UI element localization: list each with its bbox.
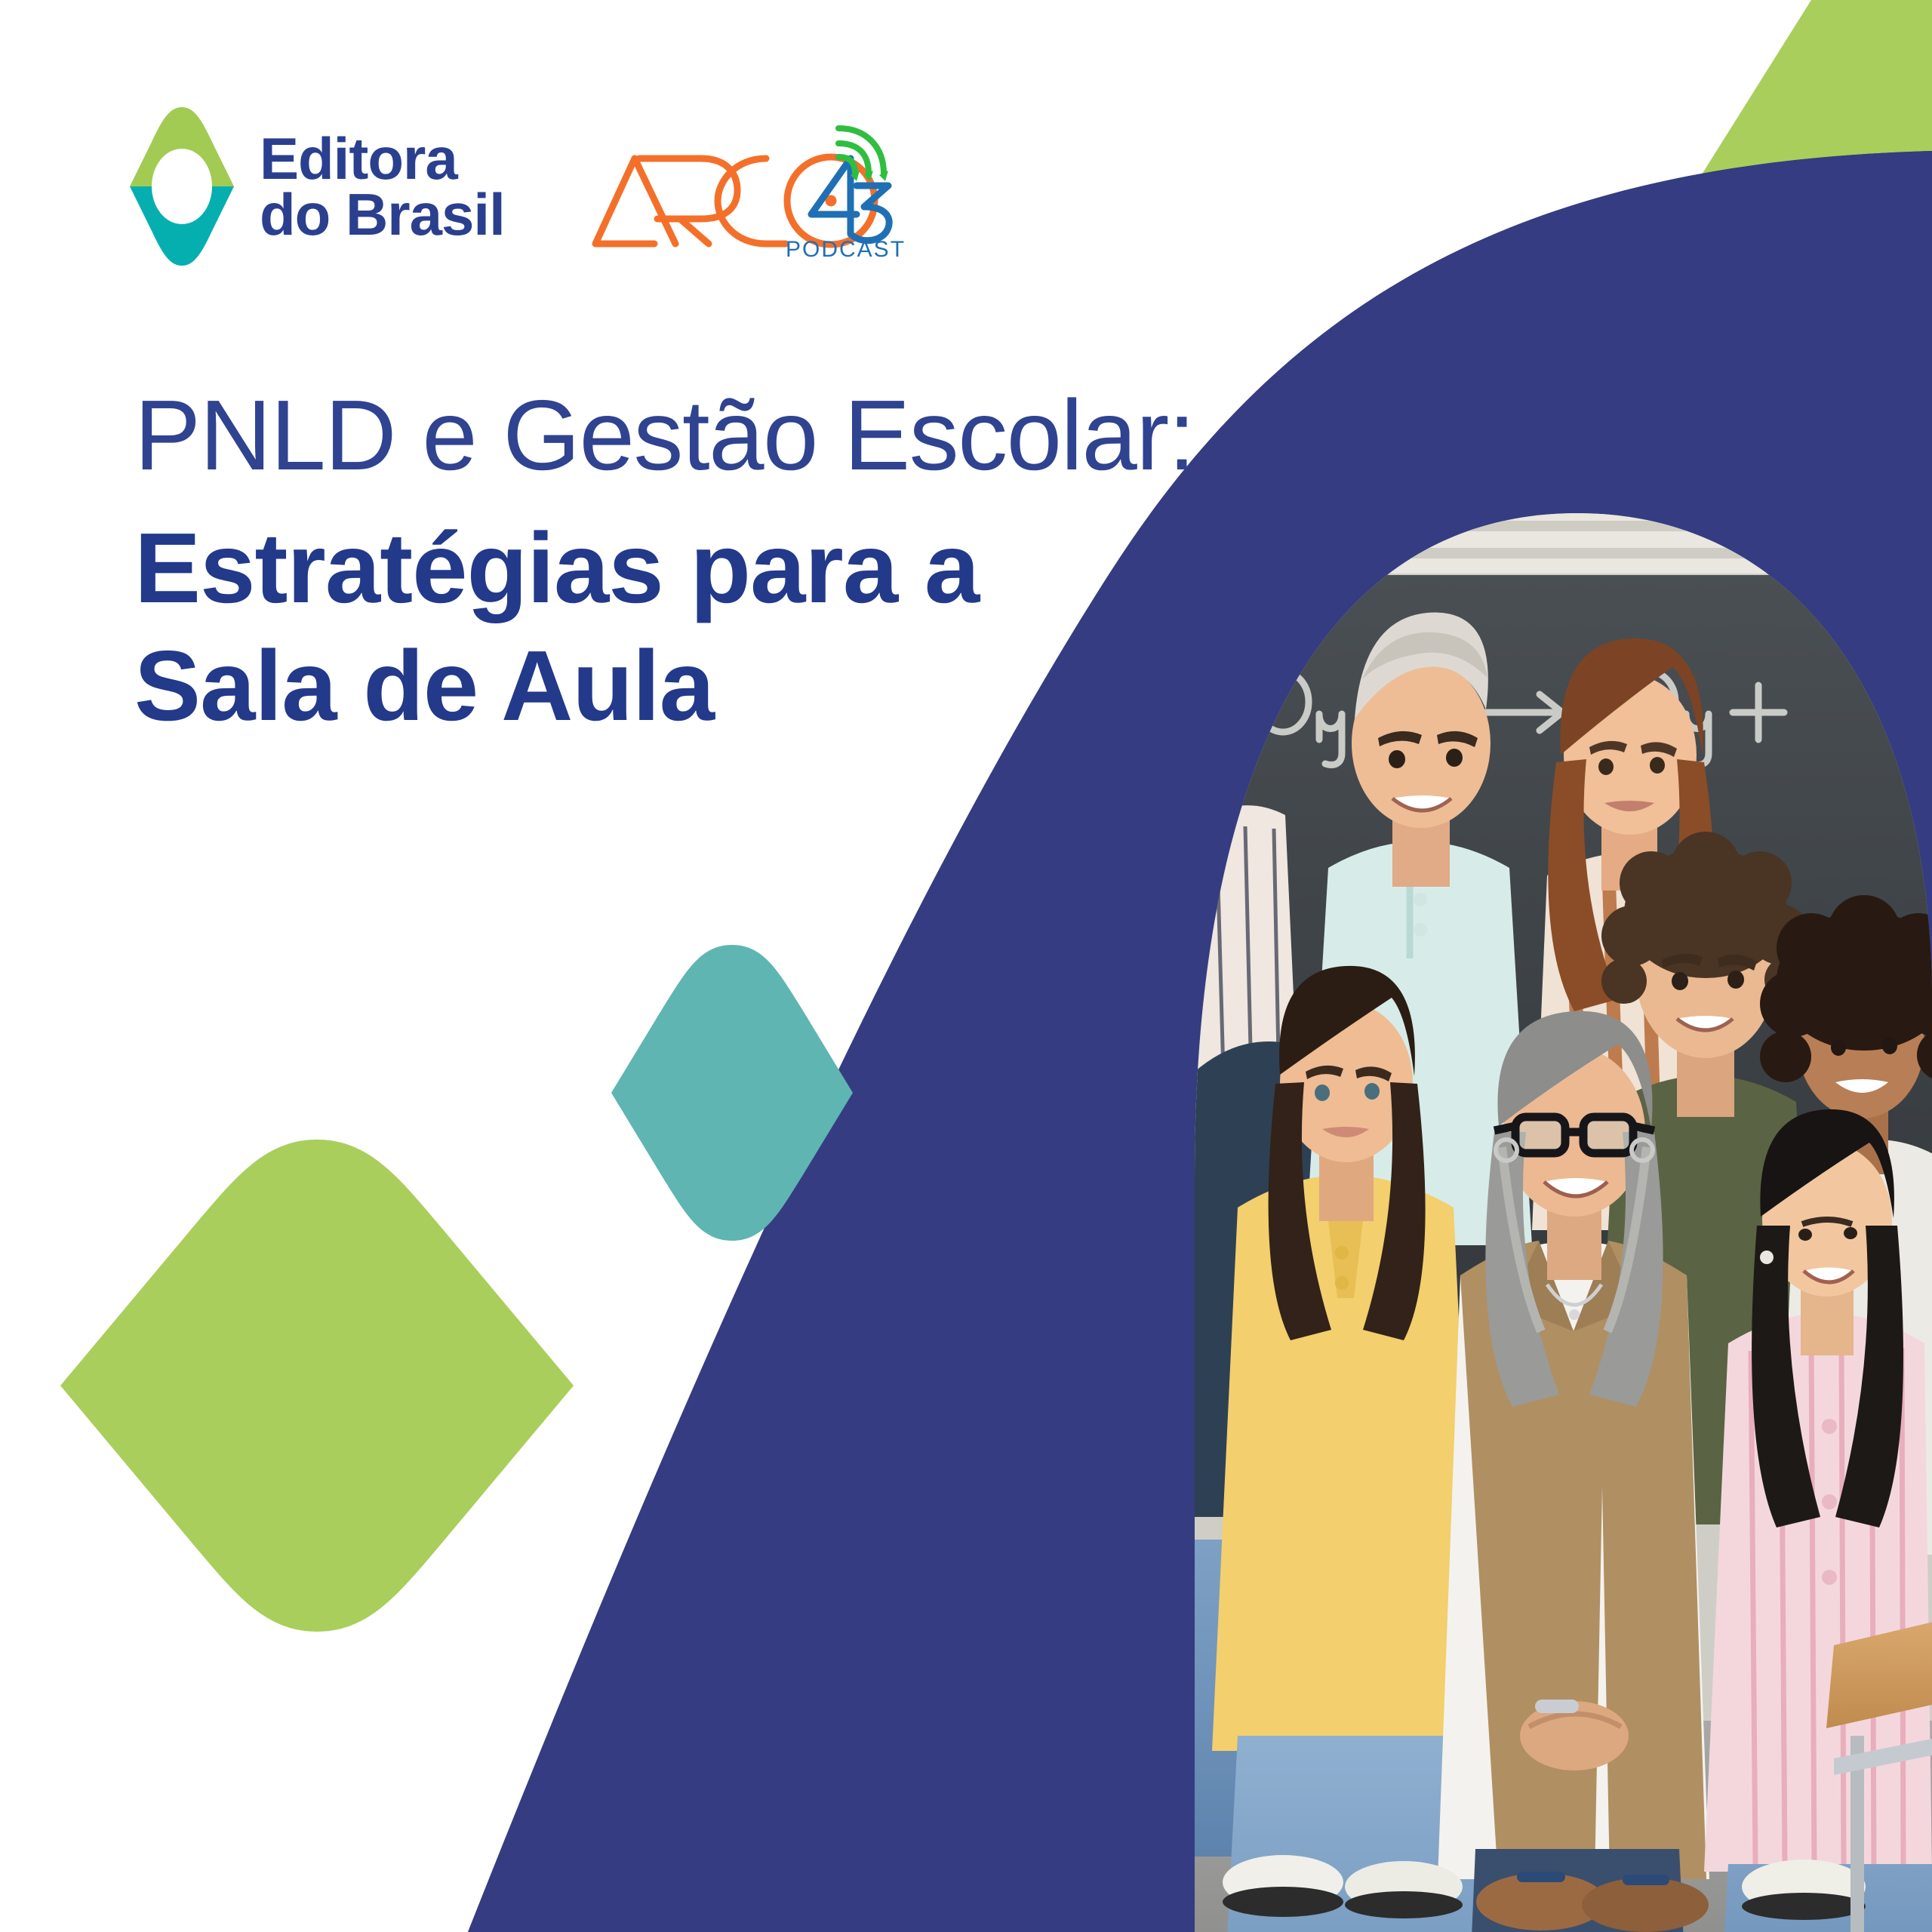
drop-ring-icon (128, 106, 235, 268)
title-line-2: Estratégias para a (134, 509, 1229, 627)
title-line-1: PNLD e Gestão Escolar: (134, 377, 1229, 493)
title-line-3: Sala de Aula (134, 627, 1229, 745)
logo-line-1: Editora (260, 131, 505, 186)
page-title: PNLD e Gestão Escolar: Estratégias para … (134, 377, 1229, 745)
podcast-label: PODCAST (786, 237, 905, 262)
background-artwork (0, 0, 1932, 1932)
editora-do-brasil-logo[interactable]: Editora do Brasil (128, 106, 505, 268)
arco-43-podcast-logo[interactable]: PODCAST (588, 112, 905, 263)
logo-line-2: do Brasil (260, 187, 505, 242)
poster-canvas: Editora do Brasil (0, 0, 1932, 1932)
editora-do-brasil-wordmark: Editora do Brasil (260, 131, 505, 242)
logo-bar: Editora do Brasil (128, 106, 905, 268)
